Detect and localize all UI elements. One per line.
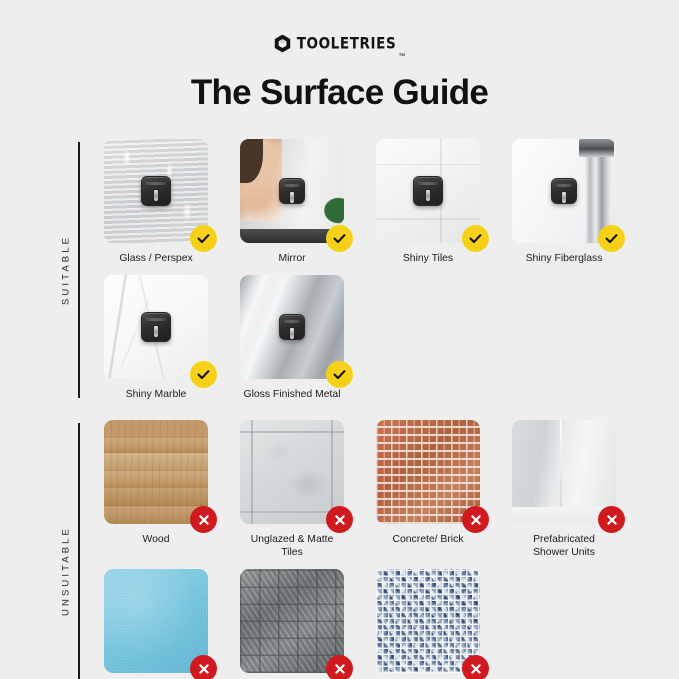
surface-label: Shiny Marble [88,388,224,401]
brand-header: TOOLETRIES ™ [0,0,679,60]
surface-texture-fiberglass [512,139,616,243]
suitable-check-icon [190,361,217,388]
wall-hook-product [551,178,577,204]
surface-thumbnail-box [376,139,480,243]
tile-grout-vertical [440,139,442,243]
shower-unit-seam [560,420,562,524]
surface-texture-prefab [512,420,616,524]
tile-grout-line [251,420,253,524]
surface-card[interactable]: Shiny Tiles [360,139,496,265]
marble-vein [107,275,128,379]
surface-texture-textured [240,569,344,673]
surface-label: Glass / Perspex [88,252,224,265]
suitable-check-icon [462,225,489,252]
surface-thumbnail-box [240,275,344,379]
section-rule [78,142,80,398]
surface-texture-mosaic [376,569,480,673]
surface-texture-metal [240,275,344,379]
unsuitable-cross-icon [326,655,353,679]
wall-hook-product [279,178,305,204]
surface-row: WoodUnglazed & MatteTilesConcrete/ Brick… [88,420,669,559]
surface-card[interactable]: Mirror [224,139,360,265]
tile-grout-horizontal [376,164,480,166]
section-unsuitable: UNSUITABLEWoodUnglazed & MatteTilesConcr… [0,420,679,679]
grid-unsuitable: WoodUnglazed & MatteTilesConcrete/ Brick… [88,420,679,679]
mirror-hair-detail [240,139,263,183]
side-label-unsuitable: UNSUITABLE [0,420,88,679]
surface-card[interactable]: Glass / Perspex [88,139,224,265]
unsuitable-cross-icon [598,506,625,533]
surface-thumbnail-box [376,420,480,524]
metal-highlight-streak [240,275,295,379]
tile-grout-line [240,431,344,433]
suitable-check-icon [326,361,353,388]
surface-label: Unglazed & MatteTiles [224,533,360,559]
brick-offset-rows [384,420,481,524]
hexagon-cube-logo-icon [274,34,291,53]
page-title: The Surface Guide [0,73,679,113]
surface-card[interactable]: Mosaic Tiles [360,569,496,679]
surface-texture-unglazed [240,420,344,524]
surface-texture-brick [376,420,480,524]
surface-card[interactable]: Concrete/ Brick [360,420,496,559]
wall-hook-product [413,176,443,206]
unsuitable-cross-icon [190,655,217,679]
section-suitable: SUITABLEGlass / PerspexMirrorShiny Tiles… [0,139,679,401]
surface-label: PrefabricatedShower Units [496,533,632,559]
surface-label: Gloss Finished Metal [224,388,360,401]
surface-thumbnail-box [104,569,208,673]
surface-row: Glass / PerspexMirrorShiny TilesShiny Fi… [88,139,669,265]
suitable-check-icon [326,225,353,252]
surface-label: Shiny Fiberglass [496,252,632,265]
unsuitable-cross-icon [326,506,353,533]
side-label-suitable: SUITABLE [0,139,88,401]
surface-card[interactable]: PrefabricatedShower Units [496,420,632,559]
surface-texture-shiny-tile [376,139,480,243]
surface-label: Shiny Tiles [360,252,496,265]
sections-container: SUITABLEGlass / PerspexMirrorShiny Tiles… [0,139,679,679]
surface-texture-marble [104,275,208,379]
surface-card[interactable]: Shiny Marble [88,275,224,401]
shower-head [579,139,614,157]
trademark-symbol: ™ [398,53,405,60]
surface-thumbnail-box [104,275,208,379]
surface-row: Shiny MarbleGloss Finished Metal [88,275,669,401]
wall-hook-product [141,312,171,342]
surface-texture-wood [104,420,208,524]
surface-texture-glass [104,139,208,243]
section-rule [78,423,80,679]
unsuitable-cross-icon [462,506,489,533]
marble-vein [122,298,150,366]
surface-card[interactable]: Gloss Finished Metal [224,275,360,401]
surface-card[interactable]: Unglazed & MatteTiles [224,420,360,559]
surface-thumbnail-box [240,569,344,673]
mirror-plant-detail [321,195,344,226]
surface-thumbnail-box [104,420,208,524]
unsuitable-cross-icon [462,655,489,679]
surface-card[interactable]: Wood [88,420,224,559]
surface-thumbnail-box [376,569,480,673]
surface-row: Painted/ UnpaintedFibreboard, Drywall,Or… [88,569,669,679]
surface-texture-mirror [240,139,344,243]
brand-name: TOOLETRIES [297,34,397,53]
surface-card[interactable]: Painted/ UnpaintedFibreboard, Drywall,Or… [88,569,224,679]
marble-vein [137,275,168,379]
side-label-text: SUITABLE [61,235,72,305]
suitable-check-icon [190,225,217,252]
surface-thumbnail-box [104,139,208,243]
surface-thumbnail-box [512,139,616,243]
grid-suitable: Glass / PerspexMirrorShiny TilesShiny Fi… [88,139,679,401]
surface-label: Wood [88,533,224,546]
mirror-person-photo [240,139,282,220]
wall-hook-product [141,176,171,206]
unsuitable-cross-icon [190,506,217,533]
surface-label: Concrete/ Brick [360,533,496,546]
surface-guide-page: TOOLETRIES ™ The Surface Guide SUITABLEG… [0,0,679,679]
surface-texture-painted [104,569,208,673]
surface-card[interactable]: Textured, Patterned,Uneven Tiles [224,569,360,679]
wall-hook-product [279,314,305,340]
suitable-check-icon [598,225,625,252]
surface-thumbnail-box [240,420,344,524]
surface-label: Mirror [224,252,360,265]
side-label-text: UNSUITABLE [61,526,72,616]
tile-grout-horizontal-2 [376,218,480,220]
surface-thumbnail-box [512,420,616,524]
surface-thumbnail-box [240,139,344,243]
surface-card[interactable]: Shiny Fiberglass [496,139,632,265]
